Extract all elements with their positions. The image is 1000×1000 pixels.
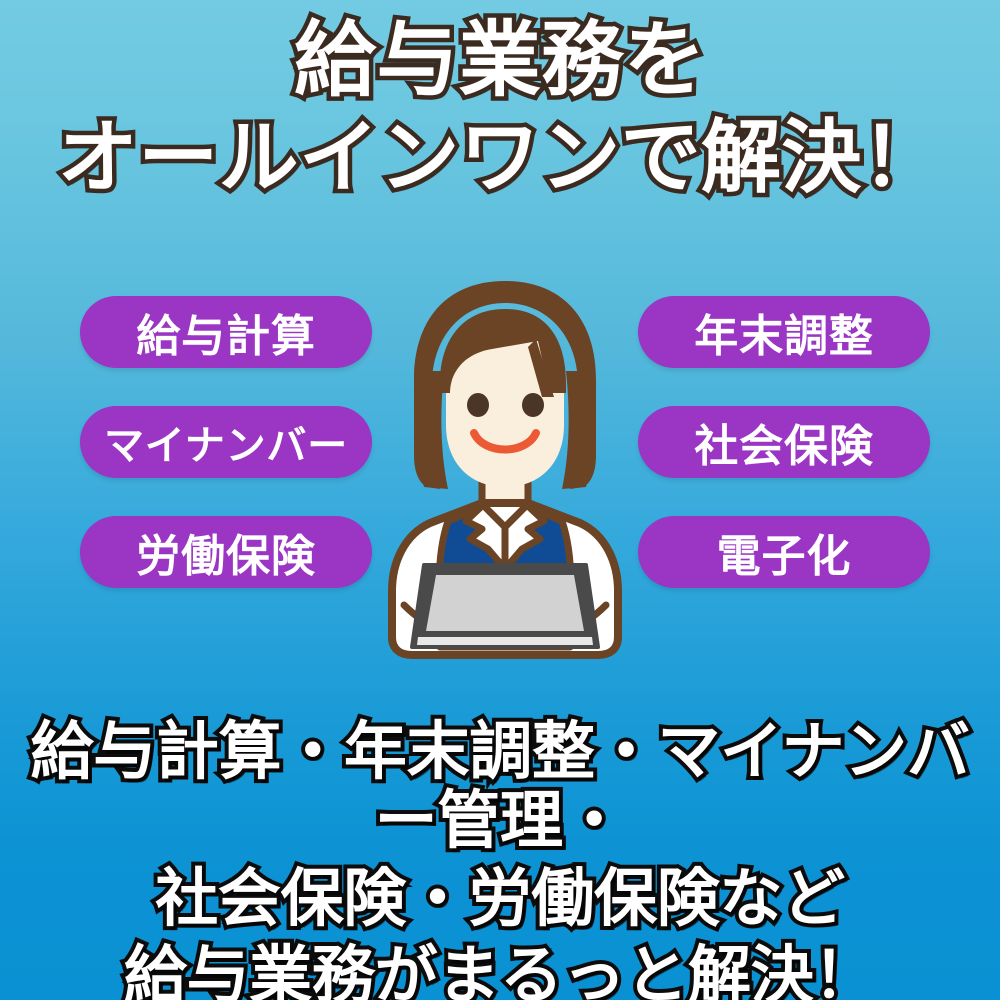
feature-pill-labor-insurance[interactable]: 労働保険 [80,516,372,588]
laptop-base-strip [417,637,593,645]
pill-label: 電子化 [717,520,852,584]
feature-pill-year-end-adjustment[interactable]: 年末調整 [638,296,930,368]
headline: 給与業務を オールインワンで解決！ [0,20,1000,198]
poster-canvas: 給与業務を オールインワンで解決！ 給与計算 マイナンバー 労働保険 年末調整 … [0,0,1000,1000]
feature-pill-my-number[interactable]: マイナンバー [80,406,372,478]
eye-left-icon [467,393,489,417]
pill-label: 社会保険 [694,410,874,474]
caption-block: 給与計算・年末調整・マイナンバー管理・ 社会保険・労働保険など 給与業務がまるっ… [0,718,1000,1000]
woman-with-laptop-illustration [370,275,640,665]
pill-label: 年末調整 [694,300,874,364]
eye-right-icon [522,393,544,417]
laptop-screen [426,575,584,631]
caption-line-3: 給与業務がまるっと解決！ [0,942,1000,1000]
caption-line-2: 社会保険・労働保険など [0,865,1000,934]
feature-pill-digitalization[interactable]: 電子化 [638,516,930,588]
hair-side-right [562,371,593,489]
headline-line-2: オールインワンで解決！ [0,118,1000,198]
caption-line-1: 給与計算・年末調整・マイナンバー管理・ [0,718,1000,857]
pill-label: マイナンバー [104,413,348,471]
pill-label: 労働保険 [136,520,316,584]
headline-line-1: 給与業務を [0,20,1000,102]
pill-label: 給与計算 [136,300,316,364]
feature-pill-payroll-calculation[interactable]: 給与計算 [80,296,372,368]
feature-pill-social-insurance[interactable]: 社会保険 [638,406,930,478]
